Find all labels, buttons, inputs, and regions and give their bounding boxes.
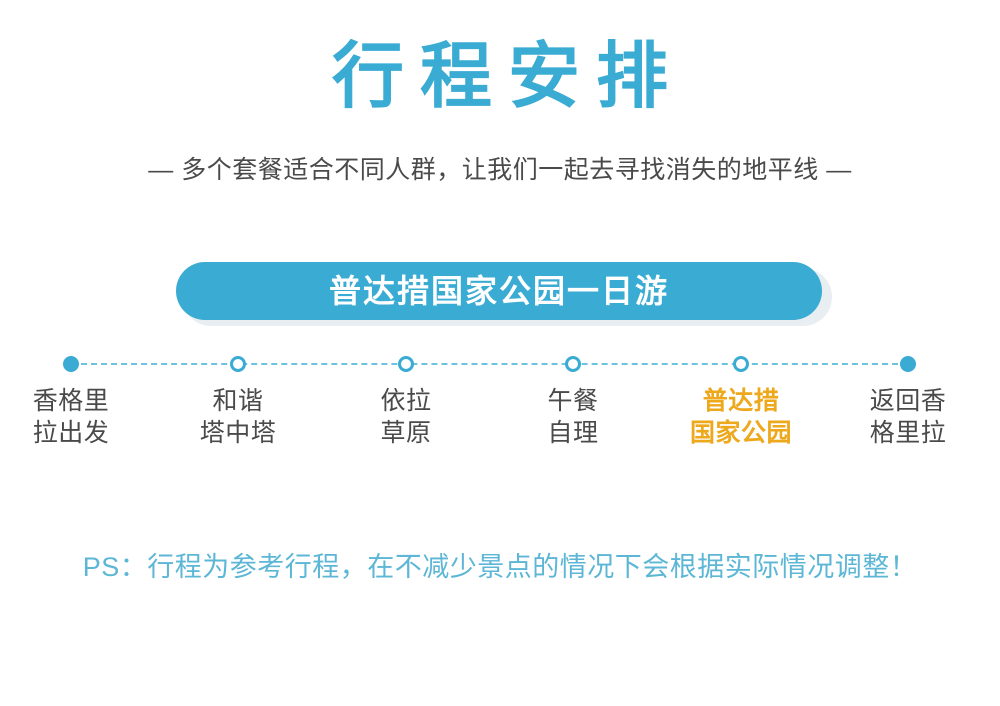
step-dot-hollow-icon [733, 356, 749, 372]
page-subtitle: — 多个套餐适合不同人群，让我们一起去寻找消失的地平线 — [0, 153, 1000, 187]
timeline-step[interactable]: 香格里 拉出发 [0, 356, 151, 449]
timeline-step[interactable]: 午餐 自理 [493, 356, 653, 449]
banner-pill: 普达措国家公园一日游 [176, 262, 822, 320]
timeline-step-label: 香格里 拉出发 [0, 385, 151, 449]
timeline-step-label: 和谐 塔中塔 [158, 385, 318, 449]
step-dot-hollow-icon [230, 356, 246, 372]
timeline-step[interactable]: 普达措 国家公园 [661, 356, 821, 449]
itinerary-timeline: 香格里 拉出发和谐 塔中塔依拉 草原午餐 自理普达措 国家公园返回香 格里拉 [0, 356, 1000, 476]
timeline-steps: 香格里 拉出发和谐 塔中塔依拉 草原午餐 自理普达措 国家公园返回香 格里拉 [0, 356, 1000, 476]
timeline-step[interactable]: 依拉 草原 [326, 356, 486, 449]
package-banner: 普达措国家公园一日游 [176, 262, 826, 322]
timeline-step-label: 普达措 国家公园 [661, 385, 821, 449]
timeline-step[interactable]: 返回香 格里拉 [828, 356, 988, 449]
timeline-step-label: 午餐 自理 [493, 385, 653, 449]
step-dot-hollow-icon [398, 356, 414, 372]
timeline-step-label: 返回香 格里拉 [828, 385, 988, 449]
itinerary-page: 行程安排 — 多个套餐适合不同人群，让我们一起去寻找消失的地平线 — 普达措国家… [0, 0, 1000, 706]
step-dot-filled-icon [63, 356, 79, 372]
page-title: 行程安排 [0, 34, 1000, 120]
step-dot-filled-icon [900, 356, 916, 372]
ps-note: PS：行程为参考行程，在不减少景点的情况下会根据实际情况调整！ [0, 548, 1000, 586]
timeline-step-label: 依拉 草原 [326, 385, 486, 449]
step-dot-hollow-icon [565, 356, 581, 372]
banner-label: 普达措国家公园一日游 [329, 274, 669, 308]
timeline-step[interactable]: 和谐 塔中塔 [158, 356, 318, 449]
